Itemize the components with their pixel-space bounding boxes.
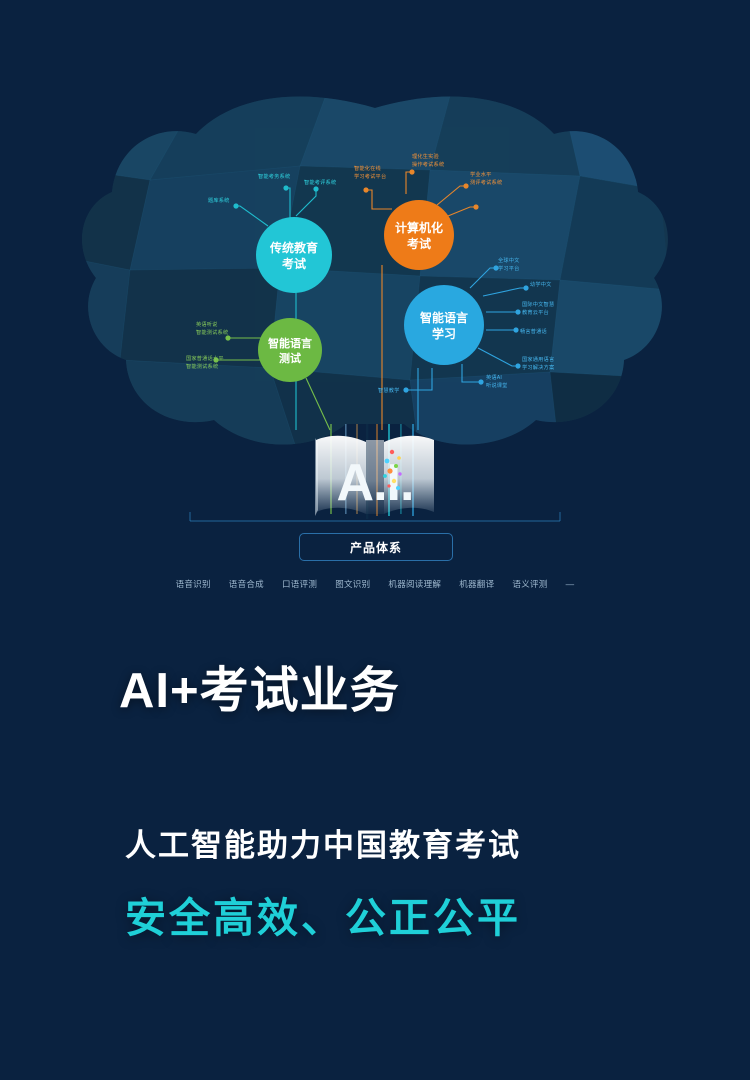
leaf-label: 国家普通话水平: [186, 354, 224, 362]
capability-tag[interactable]: 口语评测: [282, 578, 317, 590]
ai-book-logo: A.I.: [315, 436, 434, 516]
leaf-label: 全球中文: [498, 256, 520, 264]
leaf-label: 学习考试平台: [354, 172, 386, 180]
node-label-line1: 智能语言: [419, 310, 468, 325]
node-intelligent-language-testing[interactable]: 智能语言 测试: [258, 318, 322, 382]
product-system-badge-label: 产品体系: [350, 539, 402, 556]
leaf-label: 国际中文智慧: [522, 300, 554, 308]
node-label-line2: 考试: [282, 256, 306, 271]
brain-silhouette: [80, 80, 680, 460]
leaf-label: 教育云平台: [522, 308, 549, 316]
capability-tag[interactable]: 图文识别: [335, 578, 370, 590]
subtitle-accent: 安全高效、公正公平: [125, 884, 521, 944]
capability-tag-more[interactable]: —: [566, 579, 575, 589]
leaf-label: 国家通用语言: [522, 355, 554, 363]
capability-tag[interactable]: 语音识别: [176, 578, 211, 590]
capability-tag[interactable]: 机器翻译: [459, 578, 494, 590]
node-traditional-education-exam[interactable]: 传统教育 考试: [256, 217, 332, 293]
page-root: 智能考务系统 智能考评系统 题库系统 智能化在线 学习考试平台 理化生实验 操作…: [0, 0, 750, 1080]
leaf-dot: [478, 379, 483, 384]
capability-tag[interactable]: 语音合成: [229, 578, 264, 590]
capability-tag[interactable]: 机器阅读理解: [388, 578, 441, 590]
leaf-label: 智能化在线: [354, 164, 381, 172]
leaf-label: 英语听说: [196, 320, 218, 328]
leaf-dot: [233, 203, 238, 208]
leaf-label: 理化生实验: [412, 152, 440, 160]
node-label-line2: 学习: [432, 326, 456, 341]
leaf-dot: [225, 335, 230, 340]
node-label-line1: 智能语言: [268, 336, 312, 350]
capability-tag-row: 语音识别 语音合成 口语评测 图文识别 机器阅读理解 机器翻译 语义评测 —: [0, 578, 750, 590]
leaf-label: 智能考务系统: [258, 172, 290, 180]
leaf-label: 幼学中文: [530, 280, 552, 288]
leaf-dot: [409, 169, 414, 174]
leaf-label: 畅言普通话: [520, 327, 547, 335]
ai-brain-hero-illustration: 智能考务系统 智能考评系统 题库系统 智能化在线 学习考试平台 理化生实验 操作…: [0, 0, 750, 640]
leaf-dot: [283, 185, 288, 190]
leaf-label: 听说课堂: [486, 381, 508, 389]
leaf-label: 智能测试系统: [186, 362, 218, 370]
leaf-dot: [473, 204, 478, 209]
node-label-line1: 传统教育: [269, 240, 318, 255]
leaf-label: 英语AI: [486, 373, 502, 381]
ai-logo-text: A.I.: [337, 454, 414, 512]
node-label-line1: 计算机化: [395, 220, 443, 235]
leaf-dot: [403, 387, 408, 392]
leaf-label: 测评考试系统: [470, 178, 502, 186]
leaf-dot: [513, 327, 518, 332]
leaf-dot: [313, 186, 318, 191]
leaf-dot: [515, 309, 520, 314]
capability-tag[interactable]: 语义评测: [512, 578, 547, 590]
subtitle-primary: 人工智能助力中国教育考试: [125, 820, 521, 865]
hero-copy-block: AI+考试业务 人工智能助力中国教育考试 安全高效、公正公平: [119, 666, 639, 717]
leaf-label: 操作考试系统: [412, 160, 444, 168]
leaf-label: 学习解决方案: [522, 363, 555, 371]
leaf-label: 智慧教学: [378, 386, 400, 394]
leaf-label: 学习平台: [498, 264, 520, 272]
leaf-label: 学业水平: [470, 170, 492, 178]
leaf-dot: [463, 183, 468, 188]
node-label-line2: 考试: [407, 236, 431, 251]
leaf-label: 题库系统: [208, 196, 230, 204]
leaf-label: 智能考评系统: [304, 178, 336, 186]
node-intelligent-language-learning[interactable]: 智能语言 学习: [404, 285, 484, 365]
leaf-dot: [523, 285, 528, 290]
node-computerized-exam[interactable]: 计算机化 考试: [384, 200, 454, 270]
leaf-label: 智能测试系统: [196, 328, 228, 336]
leaf-dot: [363, 187, 368, 192]
product-system-badge[interactable]: 产品体系: [299, 533, 453, 561]
leaf-dot: [515, 363, 520, 368]
page-title: AI+考试业务: [119, 666, 639, 717]
node-label-line2: 测试: [279, 351, 301, 365]
